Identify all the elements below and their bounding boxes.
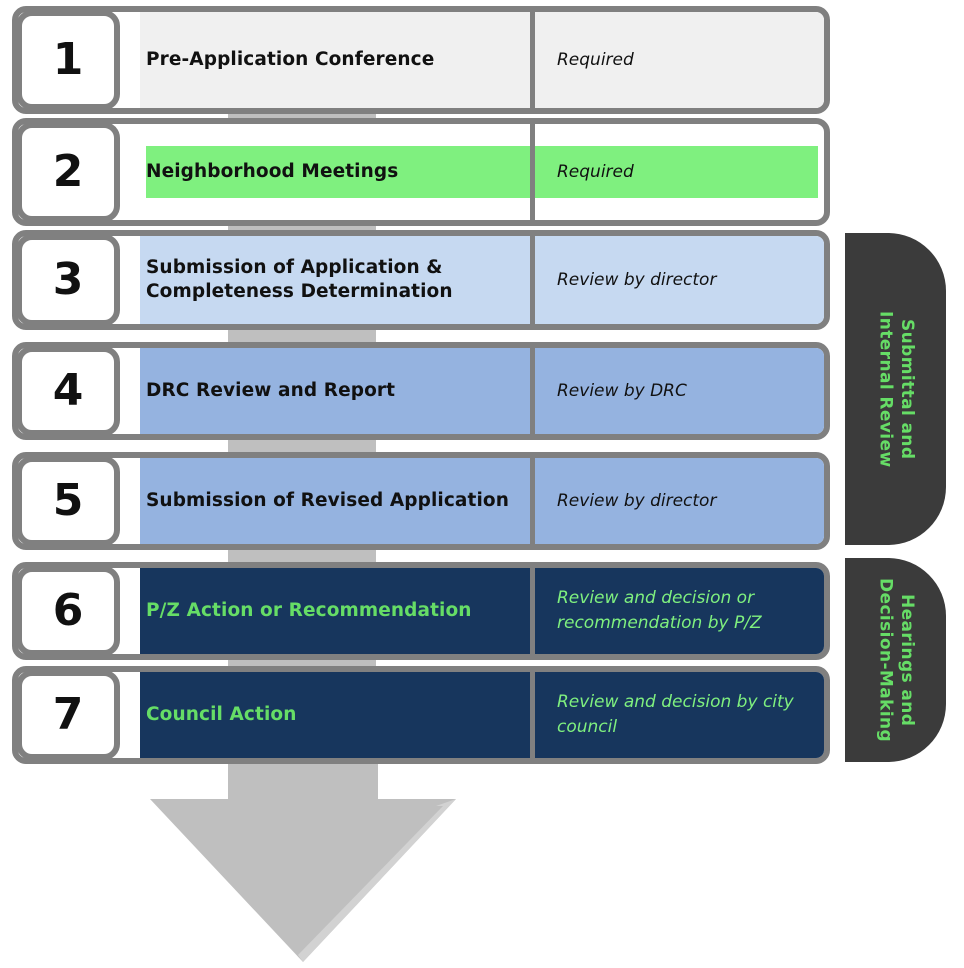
step-2-column-divider bbox=[530, 124, 535, 220]
step-4-number-chip: 4 bbox=[16, 346, 120, 436]
step-6-note-text: Review and decision or recommendation by… bbox=[557, 586, 818, 635]
process-step-row-6[interactable]: 6 P/Z Action or Recommendation Review an… bbox=[12, 562, 830, 660]
step-2-note: Required bbox=[557, 118, 818, 226]
step-1-note: Required bbox=[557, 6, 818, 114]
step-7-number-chip: 7 bbox=[16, 670, 120, 760]
process-step-row-7[interactable]: 7 Council Action Review and decision by … bbox=[12, 666, 830, 764]
step-5-number: 5 bbox=[53, 479, 84, 523]
step-7-label: Council Action bbox=[146, 666, 526, 764]
step-1-column-divider bbox=[530, 12, 535, 108]
step-2-number: 2 bbox=[53, 150, 84, 194]
step-5-label: Submission of Revised Application bbox=[146, 452, 526, 550]
step-1-number: 1 bbox=[53, 38, 84, 82]
step-7-label-text: Council Action bbox=[146, 703, 296, 727]
process-step-row-4[interactable]: 4 DRC Review and Report Review by DRC bbox=[12, 342, 830, 440]
step-6-label: P/Z Action or Recommendation bbox=[146, 562, 526, 660]
step-6-label-text: P/Z Action or Recommendation bbox=[146, 599, 472, 623]
step-3-column-divider bbox=[530, 236, 535, 324]
step-3-note: Review by director bbox=[557, 230, 818, 330]
step-3-label: Submission of Application & Completeness… bbox=[146, 230, 526, 330]
step-3-note-text: Review by director bbox=[557, 268, 716, 293]
step-6-column-divider bbox=[530, 568, 535, 654]
step-4-number: 4 bbox=[53, 369, 84, 413]
step-3-number-chip: 3 bbox=[16, 234, 120, 326]
step-1-label: Pre-Application Conference bbox=[146, 6, 526, 114]
step-1-note-text: Required bbox=[557, 48, 634, 73]
step-4-column-divider bbox=[530, 348, 535, 434]
step-4-note: Review by DRC bbox=[557, 342, 818, 440]
step-6-number: 6 bbox=[53, 589, 84, 633]
process-step-row-3[interactable]: 3 Submission of Application & Completene… bbox=[12, 230, 830, 330]
step-7-note-text: Review and decision by city council bbox=[557, 690, 818, 739]
step-4-label: DRC Review and Report bbox=[146, 342, 526, 440]
step-6-number-chip: 6 bbox=[16, 566, 120, 656]
step-5-column-divider bbox=[530, 458, 535, 544]
phase-bracket-hearings-decision-making: Hearings and Decision-Making bbox=[845, 558, 946, 762]
step-2-note-text: Required bbox=[557, 160, 634, 185]
phase-bracket-submittal-internal-review-label: Submittal and Internal Review bbox=[874, 311, 917, 468]
process-flow-down-arrow bbox=[150, 757, 456, 962]
phase-bracket-submittal-internal-review: Submittal and Internal Review bbox=[845, 233, 946, 545]
step-1-number-chip: 1 bbox=[16, 10, 120, 110]
step-3-label-text: Submission of Application & Completeness… bbox=[146, 256, 526, 304]
phase-bracket-hearings-decision-making-label: Hearings and Decision-Making bbox=[874, 578, 917, 742]
step-1-label-text: Pre-Application Conference bbox=[146, 48, 434, 72]
step-7-column-divider bbox=[530, 672, 535, 758]
step-3-number: 3 bbox=[53, 258, 84, 302]
step-4-label-text: DRC Review and Report bbox=[146, 379, 395, 403]
step-2-number-chip: 2 bbox=[16, 122, 120, 222]
step-6-note: Review and decision or recommendation by… bbox=[557, 562, 818, 660]
step-7-note: Review and decision by city council bbox=[557, 666, 818, 764]
flowchart-canvas: 1 Pre-Application Conference Required 2 … bbox=[0, 0, 964, 968]
step-4-note-text: Review by DRC bbox=[557, 379, 687, 404]
step-5-label-text: Submission of Revised Application bbox=[146, 489, 509, 513]
step-5-note-text: Review by director bbox=[557, 489, 716, 514]
step-5-note: Review by director bbox=[557, 452, 818, 550]
step-7-number: 7 bbox=[53, 693, 84, 737]
step-2-label: Neighborhood Meetings bbox=[146, 118, 526, 226]
step-2-label-text: Neighborhood Meetings bbox=[146, 160, 398, 184]
process-step-row-2[interactable]: 2 Neighborhood Meetings Required bbox=[12, 118, 830, 226]
step-5-number-chip: 5 bbox=[16, 456, 120, 546]
process-step-row-5[interactable]: 5 Submission of Revised Application Revi… bbox=[12, 452, 830, 550]
process-step-row-1[interactable]: 1 Pre-Application Conference Required bbox=[12, 6, 830, 114]
